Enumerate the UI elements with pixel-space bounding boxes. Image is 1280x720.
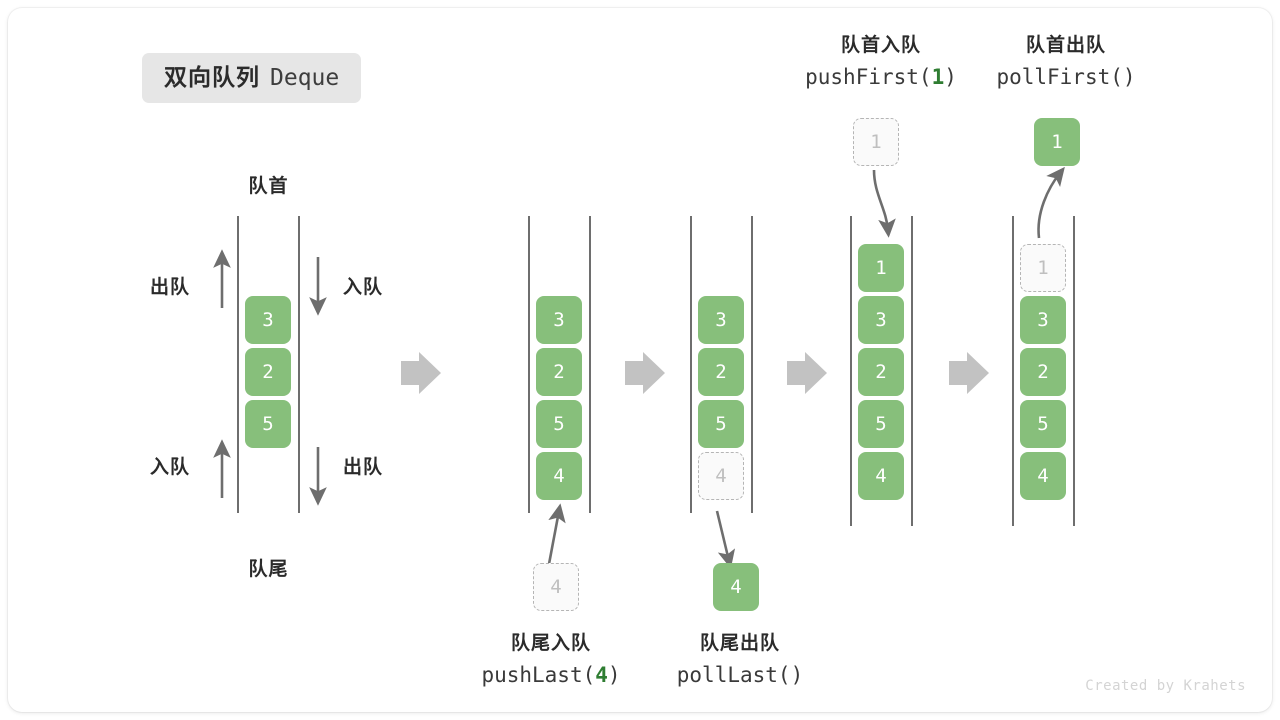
panel4-cell-2: 2 bbox=[858, 348, 904, 396]
panel2-cell-3: 4 bbox=[536, 452, 582, 500]
panel4-pushfirst-arrow bbox=[874, 170, 888, 230]
panel4-cell-4: 4 bbox=[858, 452, 904, 500]
panel5-cell-2: 2 bbox=[1020, 348, 1066, 396]
panel4-cell-0: 1 bbox=[858, 244, 904, 292]
panel1-right-bottom-label: 出队 bbox=[343, 452, 383, 479]
panel1-rear-label: 队尾 bbox=[216, 554, 321, 581]
panel2-cell-0: 3 bbox=[536, 296, 582, 344]
panel2-code-value: 4 bbox=[595, 663, 608, 687]
panel5-caption-cn: 队首出队 bbox=[966, 33, 1166, 59]
panel3-cell-1: 2 bbox=[698, 348, 744, 396]
panel4-cell-3: 5 bbox=[858, 400, 904, 448]
diagram-card: 双向队列Deque bbox=[8, 8, 1272, 712]
panel2-caption-cn: 队尾入队 bbox=[451, 631, 651, 657]
step-arrow-4 bbox=[949, 352, 989, 394]
panel3-cell-2: 5 bbox=[698, 400, 744, 448]
panel2-code-prefix: pushLast( bbox=[481, 663, 595, 687]
panel1-front-label: 队首 bbox=[216, 171, 321, 198]
step-arrow-2 bbox=[625, 352, 665, 394]
panel3-floating-cell: 4 bbox=[713, 563, 759, 611]
panel1-cell-0: 3 bbox=[245, 296, 291, 344]
panel4-cell-1: 3 bbox=[858, 296, 904, 344]
step-arrow-3 bbox=[787, 352, 827, 394]
panel2-caption: 队尾入队 pushLast(4) bbox=[451, 631, 651, 689]
panel2-cell-1: 2 bbox=[536, 348, 582, 396]
panel3-code-prefix: pollLast( bbox=[677, 663, 791, 687]
panel2-cell-2: 5 bbox=[536, 400, 582, 448]
panel1-left-top-label: 出队 bbox=[150, 272, 190, 299]
panel4-code-prefix: pushFirst( bbox=[805, 65, 931, 89]
watermark: Created by Krahets bbox=[1085, 678, 1246, 694]
panel3-caption-code: pollLast() bbox=[640, 661, 840, 689]
panel2-floating-cell: 4 bbox=[533, 563, 579, 611]
panel5-cell-3: 5 bbox=[1020, 400, 1066, 448]
panel4-code-suffix: ) bbox=[944, 65, 957, 89]
panel2-push-arrow bbox=[549, 511, 559, 564]
panel4-caption-cn: 队首入队 bbox=[781, 33, 981, 59]
panel5-floating-cell: 1 bbox=[1034, 118, 1080, 166]
panel3-poll-arrow bbox=[717, 511, 729, 561]
panel4-code-value: 1 bbox=[932, 65, 945, 89]
panel3-code-suffix: ) bbox=[791, 663, 804, 687]
panel5-caption-code: pollFirst() bbox=[966, 63, 1166, 91]
panel5-cell-1: 3 bbox=[1020, 296, 1066, 344]
panel4-floating-cell: 1 bbox=[853, 118, 899, 166]
panel5-caption: 队首出队 pollFirst() bbox=[966, 33, 1166, 91]
diagram-stage: 双向队列Deque bbox=[8, 8, 1272, 712]
panel1-cell-2: 5 bbox=[245, 400, 291, 448]
panel3-cell-0: 3 bbox=[698, 296, 744, 344]
panel3-caption-cn: 队尾出队 bbox=[640, 631, 840, 657]
panel4-caption: 队首入队 pushFirst(1) bbox=[781, 33, 981, 91]
panel1-left-bottom-label: 入队 bbox=[150, 452, 190, 479]
panel4-caption-code: pushFirst(1) bbox=[781, 63, 981, 91]
panel2-code-suffix: ) bbox=[608, 663, 621, 687]
panel3-caption: 队尾出队 pollLast() bbox=[640, 631, 840, 689]
panel3-cell-3: 4 bbox=[698, 452, 744, 500]
panel5-code-suffix: ) bbox=[1123, 65, 1136, 89]
panel5-cell-0: 1 bbox=[1020, 244, 1066, 292]
panel1-right-top-label: 入队 bbox=[343, 272, 383, 299]
panel5-code-prefix: pollFirst( bbox=[996, 65, 1122, 89]
diagram-vector-layer bbox=[8, 8, 1272, 712]
panel2-caption-code: pushLast(4) bbox=[451, 661, 651, 689]
step-arrow-1 bbox=[401, 352, 441, 394]
panel5-pollfirst-arrow bbox=[1039, 173, 1060, 238]
panel5-cell-4: 4 bbox=[1020, 452, 1066, 500]
panel1-cell-1: 2 bbox=[245, 348, 291, 396]
